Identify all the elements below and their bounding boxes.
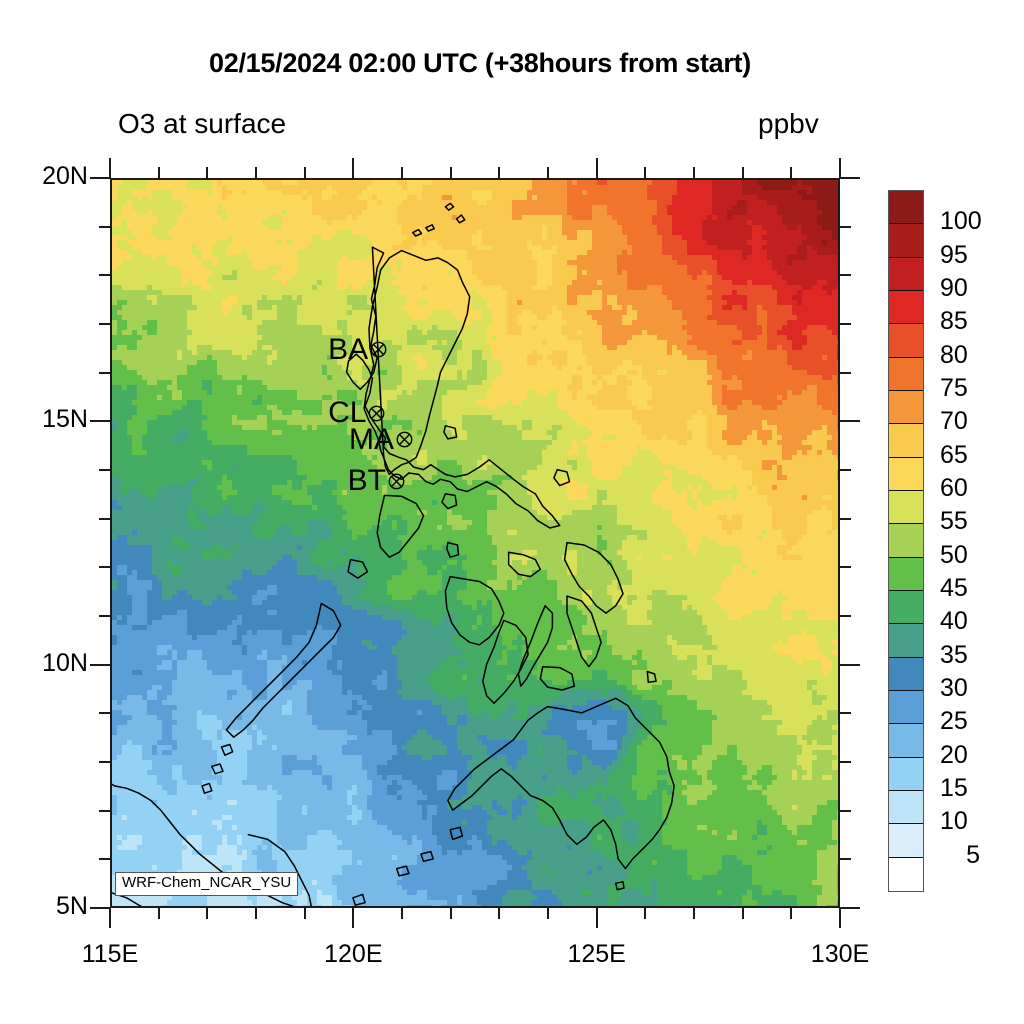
colorbar-tick-label: 15: [940, 774, 1010, 803]
y-tick-minor: [99, 761, 110, 763]
coastline-path: [647, 672, 656, 683]
colorbar-tick-label: 60: [940, 474, 1010, 503]
units-label: ppbv: [758, 108, 819, 140]
coastline-path: [565, 543, 623, 614]
x-tick-major: [352, 908, 354, 928]
y-tick-minor-right: [840, 615, 851, 617]
colorbar-tick-label: 35: [940, 641, 1010, 670]
coastline-path: [450, 827, 462, 839]
coastline-path: [445, 577, 503, 645]
x-tick-minor: [644, 908, 646, 919]
colorbar: [888, 190, 924, 892]
x-tick-minor-top: [158, 167, 160, 178]
colorbar-tick-label: 100: [940, 207, 1010, 236]
y-tick-major: [90, 177, 110, 179]
x-tick-minor-top: [304, 167, 306, 178]
y-tick-minor: [99, 323, 110, 325]
x-tick-minor-top: [547, 167, 549, 178]
y-tick-minor-right: [840, 761, 851, 763]
y-tick-minor: [99, 858, 110, 860]
y-tick-major: [90, 907, 110, 909]
coastline-path: [518, 606, 552, 686]
x-tick-minor: [742, 908, 744, 919]
x-tick-major-top: [109, 158, 111, 178]
x-tick-minor-top: [255, 167, 257, 178]
colorbar-tick-label: 45: [940, 574, 1010, 603]
x-tick-major-top: [596, 158, 598, 178]
colorbar-band: [889, 458, 923, 491]
colorbar-tick-label: 80: [940, 341, 1010, 370]
coastline-path: [421, 852, 433, 862]
coastline-path: [442, 494, 457, 509]
colorbar-band: [889, 858, 923, 891]
colorbar-band: [889, 291, 923, 324]
plot-subtitle: O3 at surface: [118, 108, 286, 140]
station-code: MA: [349, 425, 394, 455]
coastline-path: [426, 225, 434, 231]
coastline-path: [448, 698, 674, 868]
colorbar-tick-label: 55: [940, 507, 1010, 536]
coastline-path: [348, 560, 368, 579]
x-tick-major: [839, 908, 841, 928]
x-axis-label: 120E: [293, 940, 413, 969]
y-tick-major: [90, 420, 110, 422]
x-tick-minor-top: [693, 167, 695, 178]
station-marker-bt: BT: [348, 466, 405, 496]
y-axis-label: 15N: [0, 405, 88, 434]
colorbar-tick-label: 20: [940, 741, 1010, 770]
colorbar-tick-label: 30: [940, 674, 1010, 703]
x-tick-major-top: [839, 158, 841, 178]
colorbar-band: [889, 324, 923, 357]
y-tick-minor-right: [840, 469, 851, 471]
x-tick-minor-top: [206, 167, 208, 178]
x-tick-major-top: [352, 158, 354, 178]
station-symbol-circle-x-icon: [396, 431, 413, 448]
coastline-path: [444, 426, 457, 439]
x-tick-minor: [790, 908, 792, 919]
coastline-path: [457, 215, 465, 223]
colorbar-tick-label: 40: [940, 607, 1010, 636]
y-tick-major-right: [840, 907, 860, 909]
colorbar-tick-label: 10: [940, 807, 1010, 836]
y-tick-major: [90, 664, 110, 666]
x-tick-minor: [304, 908, 306, 919]
y-tick-minor: [99, 469, 110, 471]
coastline-path: [447, 543, 459, 558]
station-marker-ma: MA: [349, 425, 413, 455]
coastline-path: [540, 667, 574, 690]
colorbar-band: [889, 191, 923, 224]
station-symbol-circle-x-icon: [370, 341, 387, 358]
colorbar-band: [889, 691, 923, 724]
station-marker-ba: BA: [328, 335, 387, 365]
x-tick-minor-top: [401, 167, 403, 178]
colorbar-band: [889, 824, 923, 857]
coastline-path: [483, 620, 528, 703]
colorbar-band: [889, 624, 923, 657]
x-tick-minor-top: [498, 167, 500, 178]
coastline-path: [397, 866, 409, 876]
y-tick-major-right: [840, 177, 860, 179]
x-tick-minor: [693, 908, 695, 919]
colorbar-band: [889, 658, 923, 691]
x-tick-minor-top: [790, 167, 792, 178]
coastline-path: [554, 470, 570, 486]
y-tick-minor-right: [840, 274, 851, 276]
x-tick-minor: [255, 908, 257, 919]
y-tick-minor-right: [840, 372, 851, 374]
y-axis-label: 5N: [0, 892, 88, 921]
coastline-overlay: [112, 180, 840, 908]
y-tick-minor-right: [840, 518, 851, 520]
x-tick-minor: [498, 908, 500, 919]
colorbar-tick-label: 70: [940, 407, 1010, 436]
y-tick-minor: [99, 518, 110, 520]
colorbar-tick-label: 85: [940, 307, 1010, 336]
coastline-path: [413, 230, 422, 236]
y-tick-minor-right: [840, 226, 851, 228]
x-tick-minor: [450, 908, 452, 919]
coastline-path: [202, 784, 212, 794]
y-tick-minor: [99, 226, 110, 228]
colorbar-tick-label: 65: [940, 441, 1010, 470]
colorbar-tick-label: 5: [940, 841, 980, 870]
y-tick-minor: [99, 372, 110, 374]
coastline-path: [212, 764, 223, 774]
y-tick-minor: [99, 566, 110, 568]
colorbar-tick-label: 50: [940, 541, 1010, 570]
x-tick-major: [109, 908, 111, 928]
colorbar-band: [889, 724, 923, 757]
colorbar-band: [889, 758, 923, 791]
x-tick-minor: [158, 908, 160, 919]
colorbar-band: [889, 358, 923, 391]
coastline-path: [222, 745, 233, 756]
colorbar-band: [889, 491, 923, 524]
colorbar-tick-label: 75: [940, 374, 1010, 403]
coastline-path: [567, 596, 601, 667]
colorbar-band: [889, 224, 923, 257]
x-tick-minor-top: [644, 167, 646, 178]
colorbar-band: [889, 791, 923, 824]
y-tick-major-right: [840, 664, 860, 666]
x-axis-label: 130E: [780, 940, 900, 969]
x-tick-minor: [206, 908, 208, 919]
coastline-path: [226, 603, 340, 737]
y-tick-minor-right: [840, 323, 851, 325]
x-axis-label: 115E: [50, 940, 170, 969]
coastline-path: [616, 882, 624, 890]
y-tick-major-right: [840, 420, 860, 422]
map-plot-area: [110, 178, 840, 908]
colorbar-band: [889, 591, 923, 624]
coastline-path: [509, 552, 541, 576]
y-tick-minor-right: [840, 810, 851, 812]
coastline-path: [445, 203, 453, 210]
station-code: BT: [348, 466, 386, 496]
x-tick-minor-top: [742, 167, 744, 178]
y-tick-minor: [99, 712, 110, 714]
colorbar-band: [889, 258, 923, 291]
page-title: 02/15/2024 02:00 UTC (+38hours from star…: [0, 48, 960, 79]
x-axis-label: 125E: [537, 940, 657, 969]
colorbar-band: [889, 424, 923, 457]
x-tick-major: [596, 908, 598, 928]
y-axis-label: 20N: [0, 162, 88, 191]
y-tick-minor: [99, 274, 110, 276]
x-tick-minor: [547, 908, 549, 919]
x-tick-minor: [401, 908, 403, 919]
colorbar-band: [889, 391, 923, 424]
coastline-path: [377, 495, 423, 557]
colorbar-band: [889, 524, 923, 557]
coastline-path: [353, 894, 365, 905]
station-symbol-circle-x-icon: [388, 473, 405, 490]
y-tick-minor-right: [840, 712, 851, 714]
y-tick-minor-right: [840, 858, 851, 860]
y-tick-minor-right: [840, 566, 851, 568]
x-tick-minor-top: [450, 167, 452, 178]
colorbar-band: [889, 558, 923, 591]
colorbar-tick-label: 90: [940, 274, 1010, 303]
colorbar-tick-label: 95: [940, 241, 1010, 270]
station-code: BA: [328, 335, 368, 365]
y-axis-label: 10N: [0, 649, 88, 678]
y-tick-minor: [99, 615, 110, 617]
model-watermark: WRF-Chem_NCAR_YSU: [115, 872, 298, 896]
station-symbol-circle-x-icon: [368, 405, 385, 422]
y-tick-minor: [99, 810, 110, 812]
colorbar-tick-label: 25: [940, 707, 1010, 736]
